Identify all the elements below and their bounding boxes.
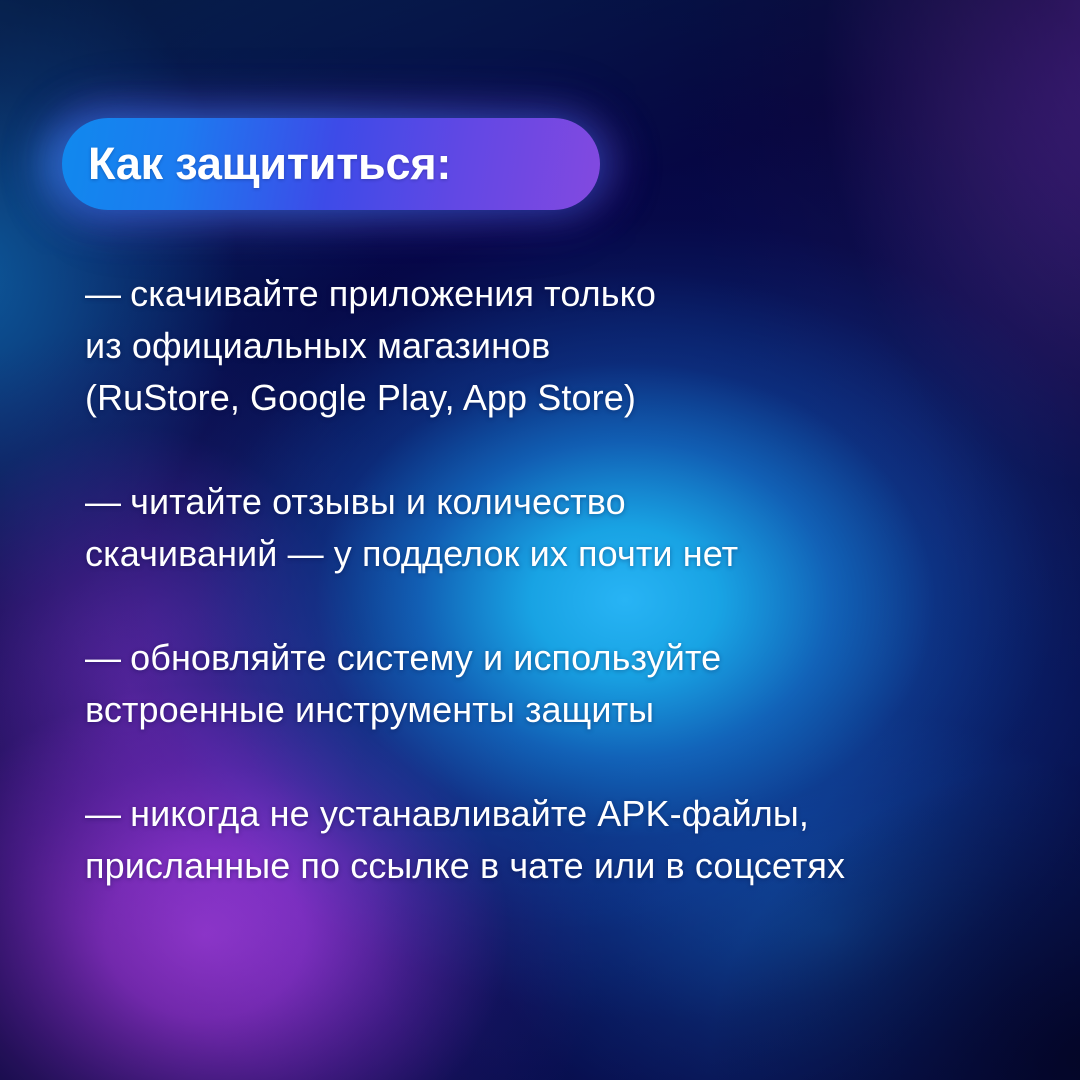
tip-line: —читайте отзывы и количество	[85, 476, 1045, 528]
tip-line-text: обновляйте систему и используйте	[130, 637, 721, 678]
tip-line: встроенные инструменты защиты	[85, 684, 1045, 736]
tip-line-text: читайте отзывы и количество	[130, 481, 626, 522]
title-pill-container: Как защититься:	[62, 118, 600, 210]
tips-list: —скачивайте приложения только из официал…	[85, 268, 1045, 892]
tip-block-update-system: —обновляйте систему и используйте встрое…	[85, 632, 1045, 736]
tip-line: —обновляйте систему и используйте	[85, 632, 1045, 684]
tip-line: присланные по ссылке в чате или в соцсет…	[85, 840, 1045, 892]
em-dash-marker: —	[85, 632, 121, 684]
tip-block-official-stores: —скачивайте приложения только из официал…	[85, 268, 1045, 424]
em-dash-marker: —	[85, 476, 121, 528]
tip-line: из официальных магазинов	[85, 320, 1045, 372]
tip-line: скачиваний — у подделок их почти нет	[85, 528, 1045, 580]
em-dash-marker: —	[85, 788, 121, 840]
tip-line-text: никогда не устанавливайте APK-файлы,	[130, 793, 809, 834]
tip-line: —никогда не устанавливайте APK-файлы,	[85, 788, 1045, 840]
tip-line-text: скачивайте приложения только	[130, 273, 656, 314]
security-tips-poster: Как защититься: —скачивайте приложения т…	[0, 0, 1080, 1080]
tip-line: (RuStore, Google Play, App Store)	[85, 372, 1045, 424]
em-dash-marker: —	[85, 268, 121, 320]
tip-block-never-install-apk: —никогда не устанавливайте APK-файлы, пр…	[85, 788, 1045, 892]
poster-content: Как защититься: —скачивайте приложения т…	[0, 0, 1080, 1080]
title-pill: Как защититься:	[62, 118, 600, 210]
page-title: Как защититься:	[88, 138, 451, 190]
tip-block-reviews-and-downloads: —читайте отзывы и количество скачиваний …	[85, 476, 1045, 580]
tip-line: —скачивайте приложения только	[85, 268, 1045, 320]
